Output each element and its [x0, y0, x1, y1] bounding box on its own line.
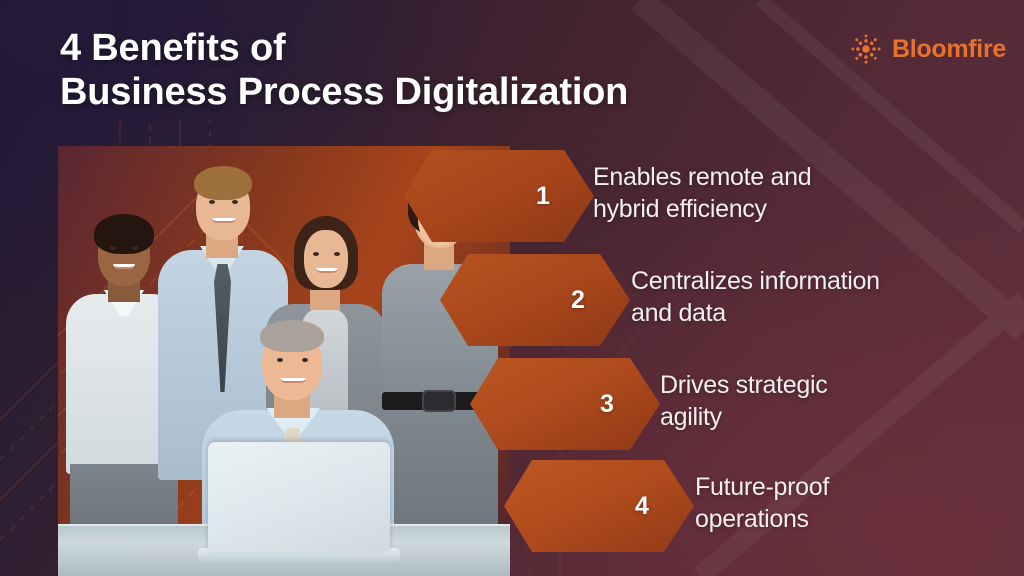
benefit-item-4[interactable]: 4 Future-proof operations — [504, 458, 1024, 554]
benefit-3-number: 3 — [600, 390, 614, 419]
benefit-1-text: Enables remote and hybrid efficiency — [593, 162, 811, 225]
benefit-3-chevron — [470, 356, 660, 452]
benefit-1-chevron — [404, 148, 594, 244]
benefit-2-text: Centralizes information and data — [631, 266, 880, 329]
benefit-2-chevron — [440, 252, 630, 348]
benefits-list: 1 Enables remote and hybrid efficiency 2 — [0, 0, 1024, 576]
benefit-item-2[interactable]: 2 Centralizes information and data — [440, 252, 1000, 348]
slide-canvas: 4 Benefits of Business Process Digitaliz… — [0, 0, 1024, 576]
benefit-4-text: Future-proof operations — [695, 472, 829, 535]
benefit-1-number: 1 — [536, 182, 550, 211]
benefit-4-chevron — [504, 458, 694, 554]
benefit-2-number: 2 — [571, 286, 585, 315]
benefit-item-1[interactable]: 1 Enables remote and hybrid efficiency — [404, 148, 964, 244]
benefit-item-3[interactable]: 3 Drives strategic agility — [470, 356, 1010, 452]
benefit-3-text: Drives strategic agility — [660, 370, 827, 433]
benefit-4-number: 4 — [635, 492, 649, 521]
